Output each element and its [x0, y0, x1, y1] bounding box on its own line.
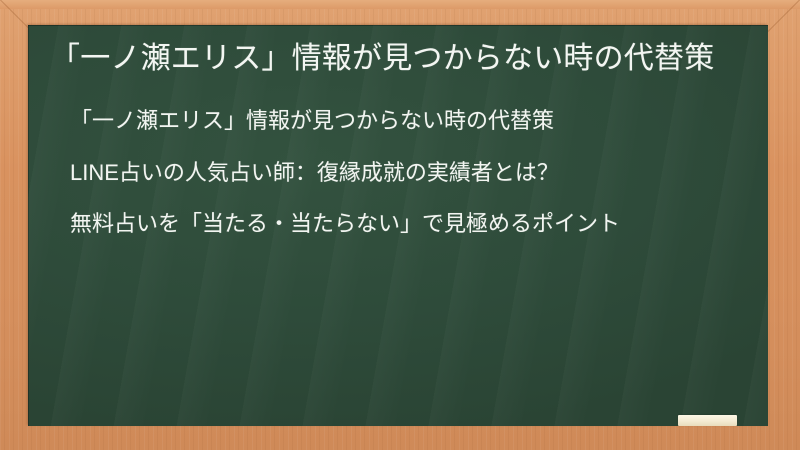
list-item: 「一ノ瀬エリス」情報が見つからない時の代替策 — [70, 106, 736, 135]
list-item: 無料占いを「当たる・当たらない」で見極めるポイント — [70, 209, 736, 238]
table-of-contents-list: 「一ノ瀬エリス」情報が見つからない時の代替策 LINE占いの人気占い師：復縁成就… — [50, 106, 746, 238]
chalk-stick — [678, 415, 737, 426]
board-content: 「一ノ瀬エリス」情報が見つからない時の代替策 「一ノ瀬エリス」情報が見つからない… — [28, 25, 768, 238]
page-title: 「一ノ瀬エリス」情報が見つからない時の代替策 — [50, 38, 746, 79]
frame-top-highlight — [0, 0, 800, 9]
chalkboard-surface: 「一ノ瀬エリス」情報が見つからない時の代替策 「一ノ瀬エリス」情報が見つからない… — [28, 25, 768, 426]
blackboard-frame: 「一ノ瀬エリス」情報が見つからない時の代替策 「一ノ瀬エリス」情報が見つからない… — [0, 0, 800, 450]
list-item: LINE占いの人気占い師：復縁成就の実績者とは？ — [70, 158, 736, 187]
